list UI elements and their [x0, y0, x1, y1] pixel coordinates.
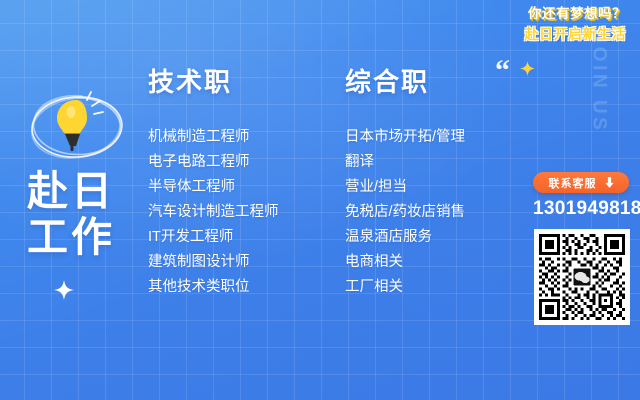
list-item: 电子电路工程师 [148, 150, 279, 175]
recruitment-poster: 你还有梦想吗？ 赴日开启新生活 JOIN US “ [0, 0, 640, 400]
job-list-tech: 机械制造工程师 电子电路工程师 半导体工程师 汽车设计制造工程师 IT开发工程师… [148, 125, 279, 300]
list-item: 工厂相关 [345, 275, 465, 300]
job-column-tech: 技术职 机械制造工程师 电子电路工程师 半导体工程师 汽车设计制造工程师 IT开… [148, 62, 279, 300]
contact-support-button[interactable]: 联系客服 [533, 172, 629, 193]
column-heading-tech: 技术职 [148, 62, 279, 99]
sparkle-icon [54, 280, 74, 300]
list-item: 建筑制图设计师 [148, 250, 279, 275]
headline-block: 你还有梦想吗？ 赴日开启新生活 [525, 6, 627, 42]
headline-line-1: 你还有梦想吗？ [525, 6, 627, 22]
join-us-label: JOIN US [588, 33, 610, 134]
page-title-line-2: 工作 [27, 214, 115, 260]
list-item: 免税店/药妆店销售 [345, 200, 465, 225]
headline-line-2: 赴日开启新生活 [525, 26, 627, 43]
list-item: 半导体工程师 [148, 175, 279, 200]
list-item: 营业/担当 [345, 175, 465, 200]
lightbulb-icon [26, 84, 128, 166]
list-item: 温泉酒店服务 [345, 225, 465, 250]
page-title-line-1: 赴日 [27, 168, 115, 214]
sparkle-icon [520, 61, 535, 76]
column-heading-general: 综合职 [345, 62, 465, 99]
job-column-general: 综合职 日本市场开拓/管理 翻译 营业/担当 免税店/药妆店销售 温泉酒店服务 … [345, 62, 465, 300]
list-item: 机械制造工程师 [148, 125, 279, 150]
page-title: 赴日 工作 [27, 168, 115, 261]
job-list-general: 日本市场开拓/管理 翻译 营业/担当 免税店/药妆店销售 温泉酒店服务 电商相关… [345, 125, 465, 300]
arrow-down-icon [605, 177, 614, 188]
list-item: IT开发工程师 [148, 225, 279, 250]
contact-support-label: 联系客服 [549, 175, 597, 191]
phone-number[interactable]: 13019498186 [533, 198, 630, 220]
qr-code-icon[interactable] [534, 229, 630, 325]
list-item: 日本市场开拓/管理 [345, 125, 465, 150]
list-item: 其他技术类职位 [148, 275, 279, 300]
list-item: 电商相关 [345, 250, 465, 275]
list-item: 汽车设计制造工程师 [148, 200, 279, 225]
quote-mark-icon: “ [495, 56, 510, 86]
list-item: 翻译 [345, 150, 465, 175]
